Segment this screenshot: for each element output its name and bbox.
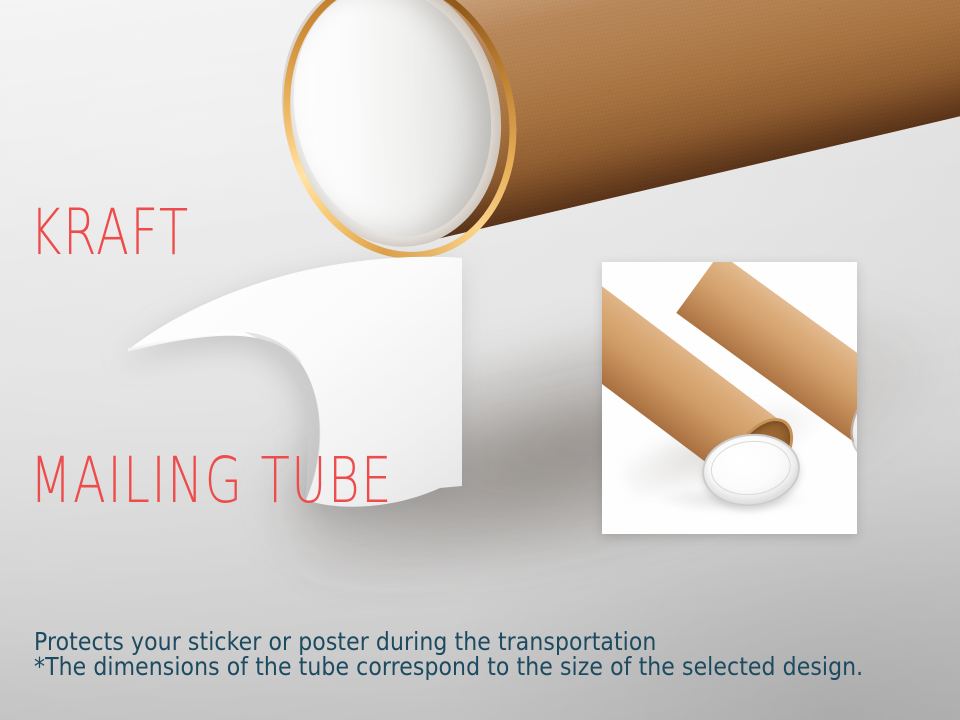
footnote-text: *The dimensions of the tube correspond t… xyxy=(34,652,863,681)
feature-description: Protects your sticker or poster during t… xyxy=(34,556,715,720)
headline-line-2: MAILING TUBE xyxy=(30,439,393,522)
headline-line-1: KRAFT xyxy=(30,191,393,274)
poster-canvas: KRAFT MAILING TUBE Protects your sticker… xyxy=(0,0,960,720)
